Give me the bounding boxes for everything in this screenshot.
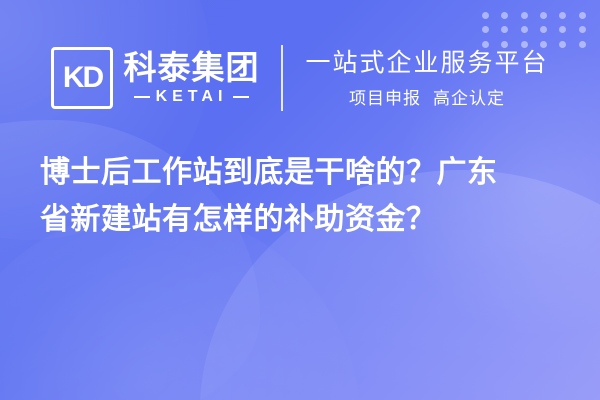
promo-banner: KD 科泰集团 KETAI 一站式企业服务平台 项目申报 高企认定 博士后工作站…	[0, 0, 600, 400]
banner-header: KD 科泰集团 KETAI 一站式企业服务平台 项目申报 高企认定	[0, 28, 600, 128]
slogan-tags: 项目申报 高企认定	[349, 84, 505, 109]
slogan-main: 一站式企业服务平台	[305, 48, 548, 78]
logo-name-cn: 科泰集团	[123, 50, 259, 86]
logo-name-en-row: KETAI	[134, 88, 250, 106]
logo-monogram-icon: KD	[51, 47, 113, 109]
page-title: 博士后工作站到底是干啥的？广东 省新建站有怎样的补助资金？	[40, 150, 560, 243]
slogan-tag-1: 项目申报	[349, 84, 421, 109]
logo-rule-right-icon	[233, 96, 249, 98]
slogan-block: 一站式企业服务平台 项目申报 高企认定	[305, 48, 548, 109]
page-title-line-2: 省新建站有怎样的补助资金？	[40, 197, 560, 244]
slogan-tag-2: 高企认定	[433, 84, 505, 109]
logo-name-en: KETAI	[156, 88, 228, 106]
page-title-line-1: 博士后工作站到底是干啥的？广东	[40, 150, 560, 197]
company-logo: KD 科泰集团 KETAI	[51, 47, 259, 109]
logo-wordmark: 科泰集团 KETAI	[123, 50, 259, 106]
logo-rule-left-icon	[134, 96, 150, 98]
header-divider	[281, 45, 283, 111]
